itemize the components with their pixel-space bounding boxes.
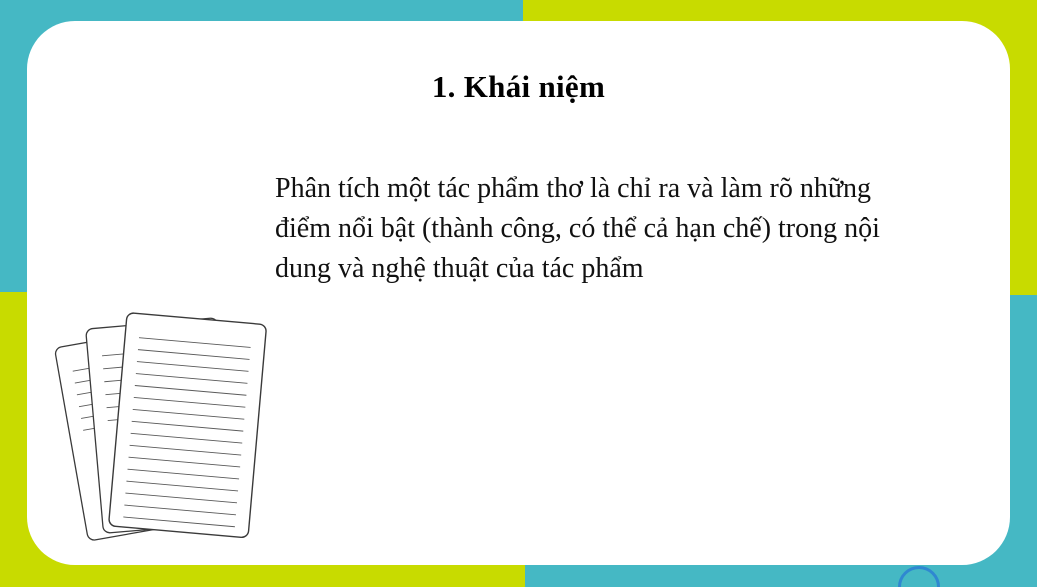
content-card: 1. Khái niệm Phân tích một tác phẩm thơ …: [27, 21, 1010, 565]
body-line: điểm nổi bật (thành công, có thể cả hạn …: [275, 209, 990, 249]
paper-sheet-front: [109, 313, 267, 538]
page-title: 1. Khái niệm: [27, 69, 1010, 105]
stack-of-papers-icon: [45, 305, 325, 565]
paper-sheet-middle: [86, 318, 235, 534]
body-line: dung và nghệ thuật của tác phẩm: [275, 249, 990, 289]
slide-canvas: 1. Khái niệm Phân tích một tác phẩm thơ …: [0, 0, 1037, 587]
body-paragraph: Phân tích một tác phẩm thơ là chỉ ra và …: [275, 169, 990, 289]
body-line: Phân tích một tác phẩm thơ là chỉ ra và …: [275, 169, 990, 209]
paper-sheet-back: [54, 326, 214, 541]
